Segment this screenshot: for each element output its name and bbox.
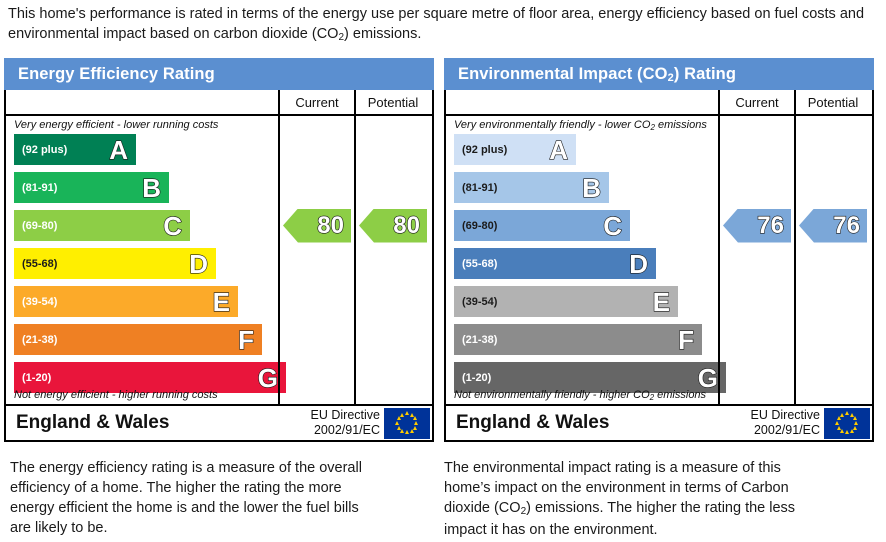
eu-star-icon xyxy=(837,416,841,420)
eu-flag-icon xyxy=(384,408,430,439)
energy-band-letter-e: E xyxy=(213,289,232,315)
energy-band-range-g: (1-20) xyxy=(22,372,51,384)
energy-band-range-b: (81-91) xyxy=(22,182,57,194)
env-band-d: (55-68)D xyxy=(454,248,656,279)
energy-band-letter-g: G xyxy=(258,365,280,391)
env-top-note-sub: 2 xyxy=(650,123,654,132)
energy-top-note: Very energy efficient - lower running co… xyxy=(14,119,218,131)
env-band-f: (21-38)F xyxy=(454,324,702,355)
co2-subscript: 2 xyxy=(338,32,344,43)
eu-star-icon xyxy=(413,416,417,420)
intro-paragraph: This home's performance is rated in term… xyxy=(8,4,880,46)
energy-current-column: 80 xyxy=(278,116,354,404)
eu-star-icon xyxy=(840,413,844,417)
env-band-range-g: (1-20) xyxy=(462,372,491,384)
energy-current-header: Current xyxy=(278,90,354,114)
energy-potential-column: 80 xyxy=(354,116,430,404)
energy-footer: England & Wales EU Directive 2002/91/EC xyxy=(4,406,434,442)
energy-eu-directive: EU Directive 2002/91/EC xyxy=(311,406,432,440)
env-top-note: Very environmentally friendly - lower CO… xyxy=(454,119,707,131)
env-explanation: The environmental impact rating is a mea… xyxy=(444,458,810,540)
env-band-range-a: (92 plus) xyxy=(462,144,507,156)
env-band-c: (69-80)C xyxy=(454,210,630,241)
eu-star-icon xyxy=(854,421,858,425)
energy-band-d: (55-68)D xyxy=(14,248,216,279)
eu-directive-line2: 2002/91/EC xyxy=(311,423,380,438)
env-band-letter-b: B xyxy=(582,175,603,201)
energy-table-header: Current Potential xyxy=(6,90,432,116)
env-bars: Very environmentally friendly - lower CO… xyxy=(446,116,718,404)
env-table-header: Current Potential xyxy=(446,90,872,116)
env-eu-text: EU Directive 2002/91/EC xyxy=(751,408,824,438)
env-potential-rating-badge: 76 xyxy=(799,209,867,243)
environmental-impact-grid: Current Potential Very environmentally f… xyxy=(444,90,874,406)
env-bottom-note-sub: 2 xyxy=(650,393,654,402)
env-potential-column: 76 xyxy=(794,116,870,404)
env-band-range-c: (69-80) xyxy=(462,220,497,232)
env-band-letter-a: A xyxy=(549,137,570,163)
energy-band-letter-d: D xyxy=(189,251,210,277)
energy-chart-body: Very energy efficient - lower running co… xyxy=(6,116,432,404)
energy-band-letter-b: B xyxy=(142,175,163,201)
environmental-impact-title: Environmental Impact (CO2) Rating xyxy=(444,58,874,90)
env-band-letter-g: G xyxy=(698,365,720,391)
environmental-impact-panel: Environmental Impact (CO2) Rating Curren… xyxy=(444,58,874,442)
eu-star-icon xyxy=(413,426,417,430)
eu-star-icon xyxy=(853,416,857,420)
intro-text-1: This home's performance is rated in term… xyxy=(8,6,864,42)
energy-band-b: (81-91)B xyxy=(14,172,169,203)
env-current-column: 76 xyxy=(718,116,794,404)
energy-band-range-d: (55-68) xyxy=(22,258,57,270)
eu-star-icon xyxy=(400,413,404,417)
env-footer: England & Wales EU Directive 2002/91/EC xyxy=(444,406,874,442)
env-band-range-d: (55-68) xyxy=(462,258,497,270)
env-top-note-post: emissions xyxy=(655,119,707,131)
env-title-main: Environmental Impact (CO xyxy=(458,65,668,83)
energy-bottom-note: Not energy efficient - higher running co… xyxy=(14,389,218,401)
energy-band-range-e: (39-54) xyxy=(22,296,57,308)
env-band-a: (92 plus)A xyxy=(454,134,576,165)
energy-efficiency-title: Energy Efficiency Rating xyxy=(4,58,434,90)
energy-efficiency-grid: Current Potential Very energy efficient … xyxy=(4,90,434,406)
eu-star-icon xyxy=(405,411,409,415)
epc-rating-page: This home's performance is rated in term… xyxy=(0,0,886,542)
header-spacer xyxy=(6,90,278,114)
eu-star-icon xyxy=(853,426,857,430)
eu-star-icon xyxy=(405,430,409,434)
env-band-letter-d: D xyxy=(629,251,650,277)
eu-star-icon xyxy=(397,426,401,430)
env-bottom-note: Not environmentally friendly - higher CO… xyxy=(454,389,706,401)
env-top-note-pre: Very environmentally friendly - lower CO xyxy=(454,119,650,131)
env-title-tail: ) Rating xyxy=(674,65,736,83)
energy-band-a: (92 plus)A xyxy=(14,134,136,165)
energy-band-e: (39-54)E xyxy=(14,286,238,317)
env-potential-header: Potential xyxy=(794,90,870,114)
eu-star-icon xyxy=(414,421,418,425)
eu-star-icon xyxy=(410,429,414,433)
eu-star-icon xyxy=(395,421,399,425)
env-explanation-sub: 2 xyxy=(521,506,527,517)
energy-band-range-c: (69-80) xyxy=(22,220,57,232)
energy-band-c: (69-80)C xyxy=(14,210,190,241)
energy-band-letter-c: C xyxy=(163,213,184,239)
energy-band-range-a: (92 plus) xyxy=(22,144,67,156)
env-band-b: (81-91)B xyxy=(454,172,609,203)
env-band-range-f: (21-38) xyxy=(462,334,497,346)
env-current-rating-badge: 76 xyxy=(723,209,791,243)
eu-star-icon xyxy=(840,429,844,433)
eu-star-icon xyxy=(845,411,849,415)
env-band-e: (39-54)E xyxy=(454,286,678,317)
eu-star-icon xyxy=(400,429,404,433)
env-band-letter-c: C xyxy=(603,213,624,239)
env-current-header: Current xyxy=(718,90,794,114)
env-bottom-note-post: emissions xyxy=(654,389,706,401)
env-band-range-b: (81-91) xyxy=(462,182,497,194)
energy-potential-header: Potential xyxy=(354,90,430,114)
energy-band-range-f: (21-38) xyxy=(22,334,57,346)
energy-efficiency-panel: Energy Efficiency Rating Current Potenti… xyxy=(4,58,434,442)
eu-star-icon xyxy=(837,426,841,430)
env-band-letter-f: F xyxy=(678,327,696,353)
env-eu-directive: EU Directive 2002/91/EC xyxy=(751,406,872,440)
eu-directive-line2: 2002/91/EC xyxy=(751,423,820,438)
eu-directive-line1: EU Directive xyxy=(751,408,820,423)
eu-star-icon xyxy=(845,430,849,434)
energy-current-rating-badge: 80 xyxy=(283,209,351,243)
eu-flag-icon xyxy=(824,408,870,439)
env-title-subscript: 2 xyxy=(668,72,674,84)
energy-region-label: England & Wales xyxy=(16,412,169,434)
energy-eu-text: EU Directive 2002/91/EC xyxy=(311,408,384,438)
energy-potential-rating-badge: 80 xyxy=(359,209,427,243)
env-bottom-note-pre: Not environmentally friendly - higher CO xyxy=(454,389,650,401)
eu-star-icon xyxy=(397,416,401,420)
env-chart-body: Very environmentally friendly - lower CO… xyxy=(446,116,872,404)
eu-star-icon xyxy=(835,421,839,425)
energy-band-letter-f: F xyxy=(238,327,256,353)
energy-band-letter-a: A xyxy=(109,137,130,163)
eu-directive-line1: EU Directive xyxy=(311,408,380,423)
energy-band-f: (21-38)F xyxy=(14,324,262,355)
energy-bars: Very energy efficient - lower running co… xyxy=(6,116,278,404)
energy-explanation: The energy efficiency rating is a measur… xyxy=(10,458,366,538)
env-band-range-e: (39-54) xyxy=(462,296,497,308)
env-region-label: England & Wales xyxy=(456,412,609,434)
header-spacer xyxy=(446,90,718,114)
eu-star-icon xyxy=(850,429,854,433)
env-band-letter-e: E xyxy=(653,289,672,315)
intro-text-2: ) emissions. xyxy=(344,26,421,42)
